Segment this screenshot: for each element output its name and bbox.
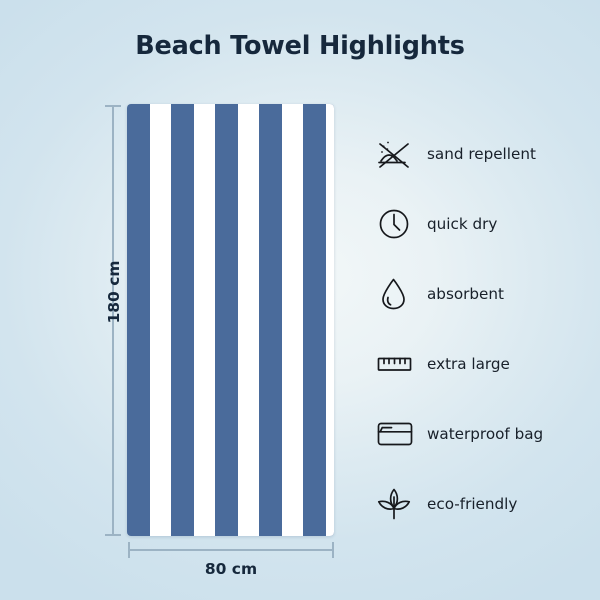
towel-stripe xyxy=(326,104,334,536)
water-drop-icon xyxy=(372,271,418,317)
ruler-icon xyxy=(372,341,418,387)
feature-item-extra-large: extra large xyxy=(372,338,592,390)
infographic-canvas: Beach Towel Highlights 180 cm 80 cm xyxy=(0,0,600,600)
feature-item-quick-dry: quick dry xyxy=(372,198,592,250)
no-sand-icon xyxy=(372,131,418,177)
feature-list: sand repellent quick dry absorbent xyxy=(372,128,592,548)
feature-item-sand-repellent: sand repellent xyxy=(372,128,592,180)
feature-label: extra large xyxy=(427,355,510,373)
towel-illustration xyxy=(127,104,334,536)
height-dimension-cap-top xyxy=(105,105,121,107)
feature-item-waterproof-bag: waterproof bag xyxy=(372,408,592,460)
feature-label: quick dry xyxy=(427,215,497,233)
feature-item-absorbent: absorbent xyxy=(372,268,592,320)
width-dimension-line xyxy=(128,549,334,551)
page-title: Beach Towel Highlights xyxy=(0,31,600,61)
feature-label: waterproof bag xyxy=(427,425,543,443)
leaves-icon xyxy=(372,481,418,527)
towel-body xyxy=(127,104,334,536)
height-dimension-label: 180 cm xyxy=(105,252,123,332)
feature-label: absorbent xyxy=(427,285,504,303)
towel-stripe xyxy=(194,104,215,536)
towel-stripe xyxy=(238,104,259,536)
towel-stripe xyxy=(282,104,303,536)
zipper-pouch-icon xyxy=(372,411,418,457)
height-dimension-cap-bottom xyxy=(105,534,121,536)
feature-item-eco-friendly: eco-friendly xyxy=(372,478,592,530)
towel-stripe xyxy=(150,104,171,536)
clock-icon xyxy=(372,201,418,247)
feature-label: sand repellent xyxy=(427,145,536,163)
width-dimension-label: 80 cm xyxy=(128,560,334,578)
feature-label: eco-friendly xyxy=(427,495,517,513)
width-dimension-cap-left xyxy=(128,542,130,558)
width-dimension-cap-right xyxy=(332,542,334,558)
